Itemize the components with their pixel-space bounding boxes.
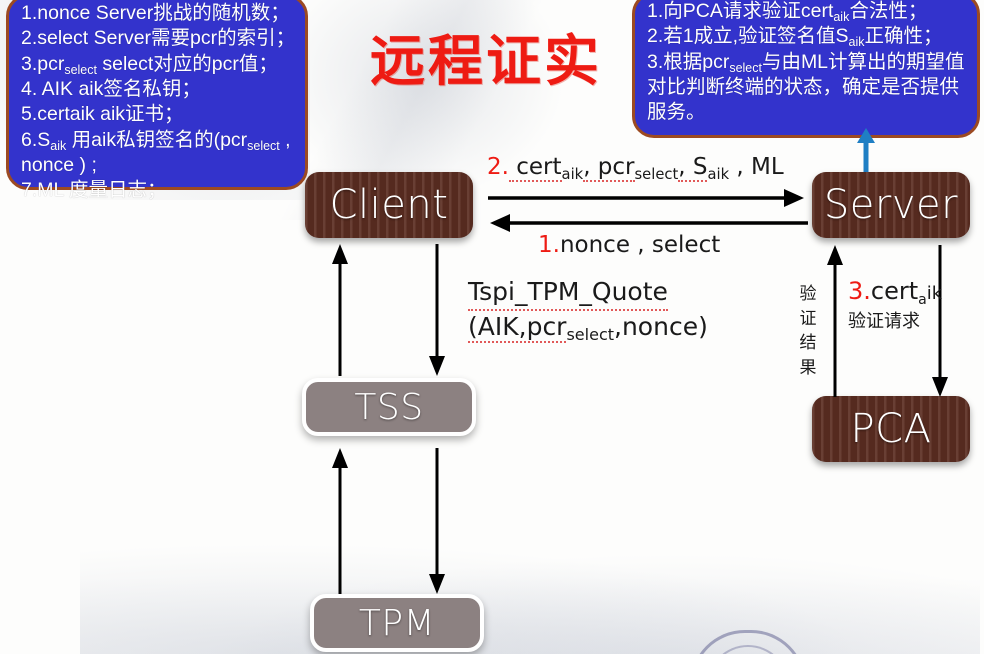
message-2-number: 2.: [487, 154, 509, 180]
callout-server-notes: 1.向PCA请求验证certaik合法性； 2.若1成立,验证签名值Saik正确…: [632, 0, 980, 138]
subscript-aik: aik: [50, 139, 66, 153]
verify-result-char-3: 结: [798, 331, 818, 356]
verify-result-char-4: 果: [798, 356, 818, 381]
slide-canvas: 1.nonce Server挑战的随机数； 2.select Server需要p…: [0, 0, 984, 654]
callout-line-6: 6.Saik 用aik私钥签名的(pcrselect ,: [21, 128, 295, 153]
node-pca[interactable]: PCA: [812, 396, 970, 462]
node-server[interactable]: Server: [812, 172, 970, 238]
verify-result-char-1: 验: [798, 282, 818, 307]
callout-client-notes: 1.nonce Server挑战的随机数； 2.select Server需要p…: [6, 0, 308, 190]
subscript-aik-sig: aik: [849, 35, 865, 49]
edge-label-verify-result: 验 证 结 果: [798, 282, 818, 381]
verify-result-char-2: 证: [798, 307, 818, 332]
arrow-server-to-pca: [930, 245, 950, 397]
message-2-sig: , S: [678, 154, 707, 182]
cert-request-number: 3.: [848, 277, 871, 305]
node-client-label: Client: [330, 182, 449, 228]
arrow-client-to-tss: [427, 244, 447, 376]
arrow-tss-to-tpm: [427, 448, 447, 594]
tspi-quote-arg-prefix: (AIK,pcr: [468, 312, 566, 343]
message-1-number: 1.: [538, 232, 560, 258]
node-tss-label: TSS: [354, 387, 423, 428]
callout-line-8: 7.ML 度量日志；: [21, 178, 295, 203]
arrow-tpm-to-tss: [330, 448, 350, 594]
tspi-quote-args: (AIK,pcrselect,nonce): [468, 311, 708, 344]
callout-line-1: 1.nonce Server挑战的随机数；: [21, 1, 295, 26]
node-tss[interactable]: TSS: [302, 378, 476, 436]
background-watermark-bottom: [80, 520, 980, 654]
subscript-select-3: select: [729, 61, 762, 75]
cert-request-cert: cert: [871, 277, 918, 305]
callout-line-4: 4. AIK aik签名私钥；: [21, 77, 295, 102]
slide-title: 远程证实: [352, 16, 620, 96]
tspi-quote-function: Tspi_TPM_Quote: [468, 276, 668, 311]
server-note-line-1: 1.向PCA请求验证certaik合法性；: [647, 0, 967, 24]
tspi-quote-arg-suffix: ,nonce): [614, 312, 708, 341]
callout-line-7: nonce ) ;: [21, 153, 295, 178]
callout-line-5: 5.certaik aik证书；: [21, 102, 295, 127]
node-tpm[interactable]: TPM: [310, 594, 484, 652]
arrow-server-to-notes: [852, 128, 880, 176]
subscript-select-quote: select: [566, 325, 614, 344]
edge-label-message-2: 2. certaik, pcrselect, Saik , ML: [487, 154, 784, 180]
node-pca-label: PCA: [851, 406, 932, 452]
callout-line-2: 2.select Server需要pcr的索引；: [21, 26, 295, 51]
subscript-select-msg2: select: [635, 166, 679, 183]
arrow-client-to-server: [488, 188, 808, 208]
arrow-tss-to-client: [330, 244, 350, 376]
edge-label-tspi-quote: Tspi_TPM_Quote (AIK,pcrselect,nonce): [468, 276, 708, 343]
message-2-ml: , ML: [729, 154, 784, 180]
edge-label-cert-request: 3.certaik验证请求: [848, 276, 930, 334]
callout-line-3: 3.pcrselect select对应的pcr值；: [21, 52, 295, 77]
server-note-line-3: 3.根据pcrselect与由ML计算出的期望值对比判断终端的状态，确定是否提供…: [647, 50, 967, 126]
arrow-server-to-client: [488, 213, 808, 233]
subscript-aik-msg2: aik: [562, 166, 584, 183]
arrow-pca-to-server: [825, 245, 845, 397]
server-note-line-2: 2.若1成立,验证签名值Saik正确性；: [647, 24, 967, 49]
subscript-select: select: [64, 63, 97, 77]
edge-label-message-1: 1.nonce , select: [538, 232, 720, 258]
node-tpm-label: TPM: [359, 603, 435, 644]
subscript-select-2: select: [247, 139, 280, 153]
node-client[interactable]: Client: [305, 172, 473, 238]
node-server-label: Server: [824, 182, 958, 228]
message-1-text: nonce , select: [560, 232, 720, 258]
message-2-pcr: , pcr: [583, 154, 634, 182]
subscript-aik-cert: aik: [833, 10, 849, 24]
background-emblem: [690, 630, 806, 654]
subscript-a-cert: a: [918, 292, 927, 308]
subscript-aik-sig-msg2: aik: [707, 166, 729, 183]
message-2-cert: cert: [509, 154, 562, 182]
